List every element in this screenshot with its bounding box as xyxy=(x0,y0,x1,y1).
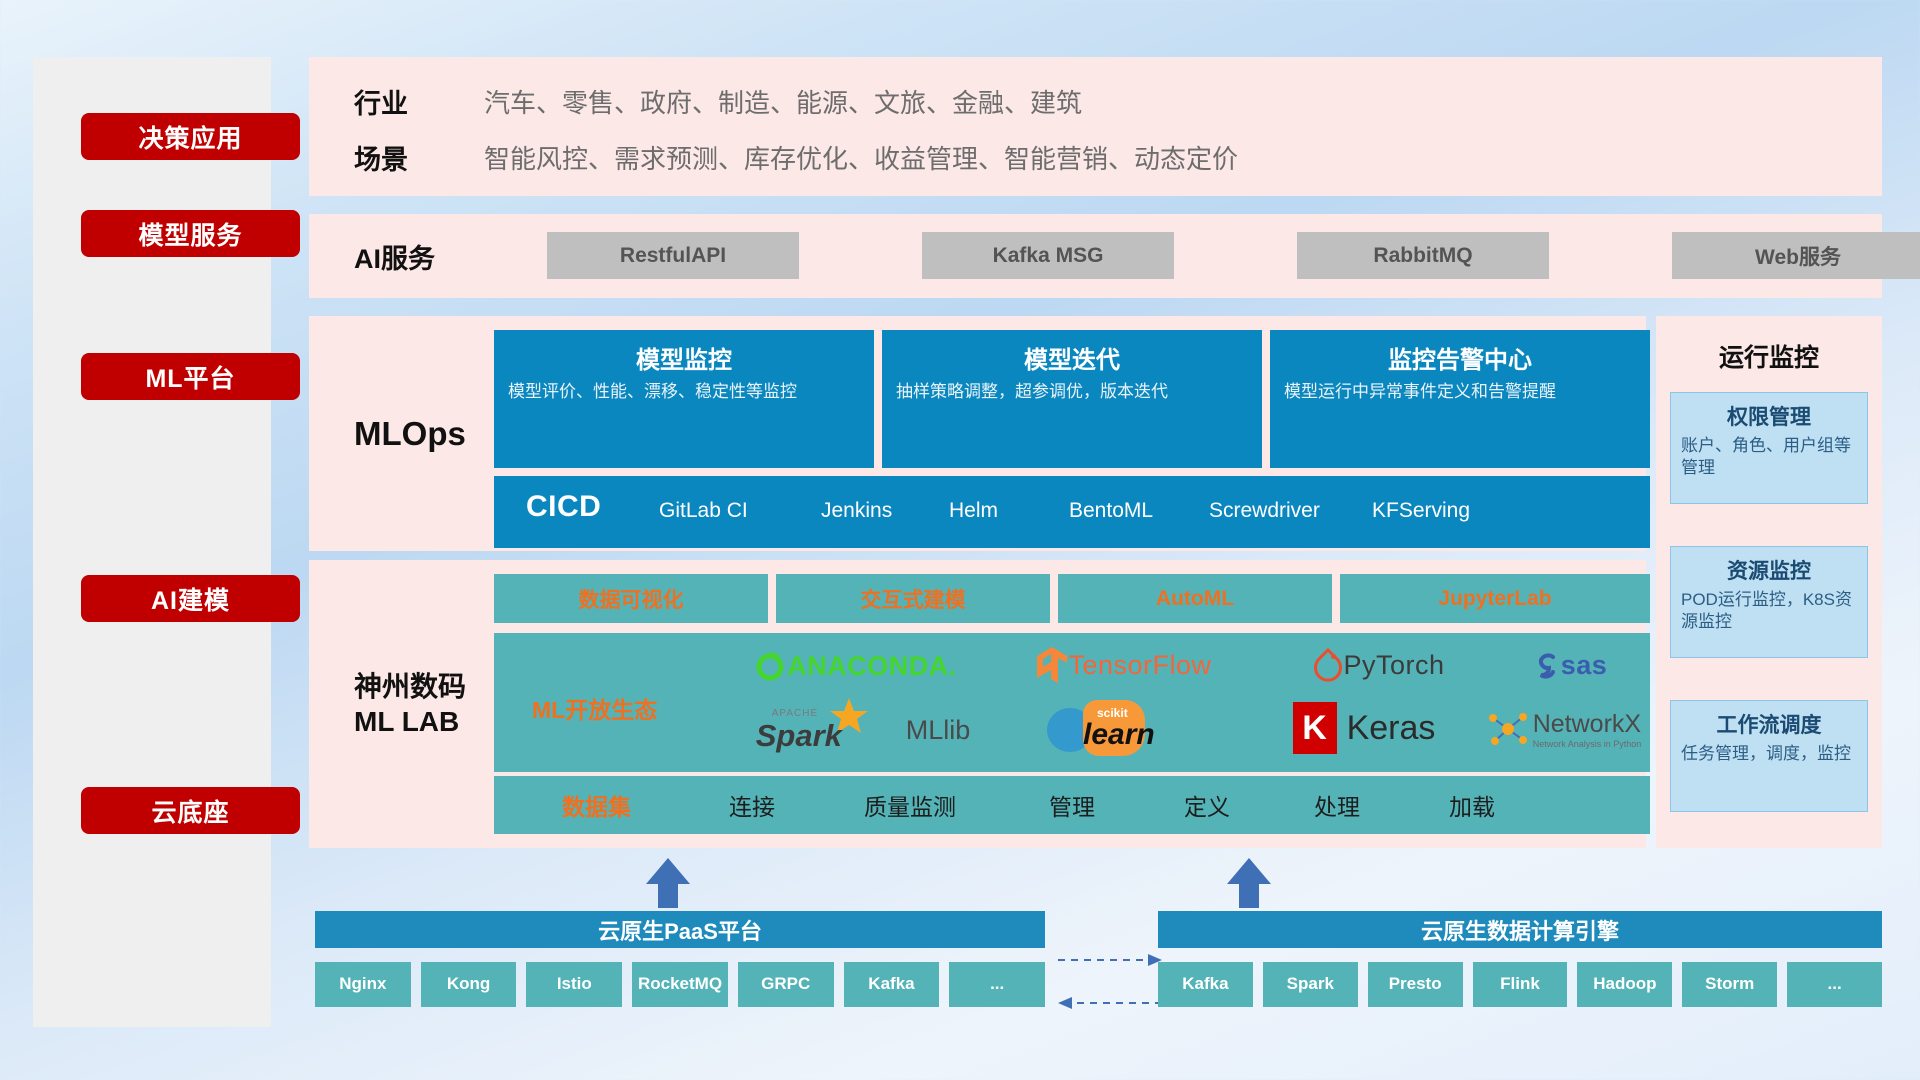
card-desc: 账户、角色、用户组等管理 xyxy=(1681,435,1857,479)
paas-chip-kafka[interactable]: Kafka xyxy=(844,962,940,1007)
paas-chip-istio[interactable]: Istio xyxy=(526,962,622,1007)
tool-chip-interactive-modeling[interactable]: 交互式建模 xyxy=(776,574,1050,623)
anaconda-logo-text: ANACONDA. xyxy=(787,651,957,682)
rail-item-decision-app[interactable]: 决策应用 xyxy=(81,113,300,160)
rail-label: 决策应用 xyxy=(138,119,242,155)
monitoring-card-workflow[interactable]: 工作流调度 任务管理，调度，监控 xyxy=(1670,700,1868,812)
cicd-item-bentoml[interactable]: BentoML xyxy=(1069,498,1149,524)
decision-app-band: 行业 汽车、零售、政府、制造、能源、文旅、金融、建筑 场景 智能风控、需求预测、… xyxy=(309,57,1882,196)
engine-chip-row: Kafka Spark Presto Flink Hadoop Storm ..… xyxy=(1158,962,1882,1007)
card-desc: 模型评价、性能、漂移、稳定性等监控 xyxy=(508,381,860,403)
left-rail: 决策应用 模型服务 ML平台 AI建模 云底座 xyxy=(33,57,271,1027)
engine-chip-storm[interactable]: Storm xyxy=(1682,962,1777,1007)
cicd-item-jenkins[interactable]: Jenkins xyxy=(821,498,893,524)
paas-chip-more[interactable]: ... xyxy=(949,962,1045,1007)
card-title: 权限管理 xyxy=(1681,401,1857,431)
service-chip-rabbitmq[interactable]: RabbitMQ xyxy=(1297,232,1549,279)
keras-logo-text: Keras xyxy=(1347,709,1436,748)
cicd-item-helm[interactable]: Helm xyxy=(949,498,1027,524)
mlops-label: MLOps xyxy=(354,316,466,551)
dataset-item-load[interactable]: 加载 xyxy=(1449,788,1495,822)
ml-lab-label-line2: ML LAB xyxy=(354,704,466,739)
card-title: 模型迭代 xyxy=(896,340,1248,375)
mllib-logo-text: MLlib xyxy=(906,715,971,746)
dataset-item-manage[interactable]: 管理 xyxy=(1049,788,1095,822)
paas-chip-rocketmq[interactable]: RocketMQ xyxy=(632,962,728,1007)
tool-chip-data-visualization[interactable]: 数据可视化 xyxy=(494,574,768,623)
data-engine-title: 云原生数据计算引擎 xyxy=(1421,914,1619,946)
monitoring-card-resource[interactable]: 资源监控 POD运行监控，K8S资源监控 xyxy=(1670,546,1868,658)
data-engine-bar[interactable]: 云原生数据计算引擎 xyxy=(1158,911,1882,948)
pytorch-logo: PyTorch xyxy=(1264,641,1494,689)
sas-logo-text: sas xyxy=(1561,650,1608,681)
rail-label: 模型服务 xyxy=(138,216,242,252)
ml-lab-label-line1: 神州数码 xyxy=(354,669,466,704)
cicd-bar: CICD GitLab CI Jenkins Helm BentoML Scre… xyxy=(494,476,1650,548)
networkx-logo-text: NetworkX xyxy=(1533,710,1642,739)
architecture-diagram: 决策应用 模型服务 ML平台 AI建模 云底座 行业 汽车、零售、政府、制造、能… xyxy=(0,0,1920,1080)
card-desc: 模型运行中异常事件定义和告警提醒 xyxy=(1284,381,1636,403)
tool-chip-jupyterlab[interactable]: JupyterLab xyxy=(1340,574,1650,623)
arrow-up-paas-icon xyxy=(646,858,690,908)
card-desc: POD运行监控，K8S资源监控 xyxy=(1681,589,1857,633)
mlops-card-model-monitoring[interactable]: 模型监控 模型评价、性能、漂移、稳定性等监控 xyxy=(494,330,874,468)
tensorflow-logo: TensorFlow xyxy=(994,641,1254,689)
card-desc: 任务管理，调度，监控 xyxy=(1681,743,1857,765)
mlops-card-alert-center[interactable]: 监控告警中心 模型运行中异常事件定义和告警提醒 xyxy=(1270,330,1650,468)
card-desc: 抽样策略调整，超参调优，版本迭代 xyxy=(896,381,1248,403)
engine-chip-presto[interactable]: Presto xyxy=(1368,962,1463,1007)
industry-value: 汽车、零售、政府、制造、能源、文旅、金融、建筑 xyxy=(484,83,1082,120)
industry-row: 行业 汽车、零售、政府、制造、能源、文旅、金融、建筑 xyxy=(354,75,1082,127)
card-title: 工作流调度 xyxy=(1681,709,1857,739)
model-service-band: AI服务 RestfulAPI Kafka MSG RabbitMQ Web服务 xyxy=(309,214,1882,298)
service-chip-web-service[interactable]: Web服务 xyxy=(1672,232,1920,279)
dataset-item-define[interactable]: 定义 xyxy=(1184,788,1230,822)
ml-ecosystem-panel: ML开放生态 ANACONDA. TensorFlow PyTorch sas xyxy=(494,633,1650,772)
rail-item-cloud-base[interactable]: 云底座 xyxy=(81,787,300,834)
paas-platform-bar[interactable]: 云原生PaaS平台 xyxy=(315,911,1045,948)
arrow-up-engine-icon xyxy=(1227,858,1271,908)
dataset-item-connect[interactable]: 连接 xyxy=(729,788,775,822)
rail-item-ai-modeling[interactable]: AI建模 xyxy=(81,575,300,622)
rail-item-ml-platform[interactable]: ML平台 xyxy=(81,353,300,400)
scenario-row: 场景 智能风控、需求预测、库存优化、收益管理、智能营销、动态定价 xyxy=(354,131,1238,183)
ml-ecosystem-label: ML开放生态 xyxy=(532,691,657,725)
spark-logo-text: Spark xyxy=(756,718,842,754)
ai-modeling-band: 神州数码 ML LAB 数据可视化 交互式建模 AutoML JupyterLa… xyxy=(309,560,1646,848)
paas-chip-row: Nginx Kong Istio RocketMQ GRPC Kafka ... xyxy=(315,962,1045,1007)
tool-chip-automl[interactable]: AutoML xyxy=(1058,574,1332,623)
cicd-item-screwdriver[interactable]: Screwdriver xyxy=(1209,498,1314,524)
card-title: 模型监控 xyxy=(508,340,860,375)
dataset-row: 数据集 连接 质量监测 管理 定义 处理 加载 xyxy=(494,776,1650,834)
engine-chip-hadoop[interactable]: Hadoop xyxy=(1577,962,1672,1007)
keras-mark-text: K xyxy=(1293,702,1337,754)
cicd-title: CICD xyxy=(526,490,601,524)
anaconda-logo: ANACONDA. xyxy=(730,643,980,689)
keras-logo: K Keras xyxy=(1264,699,1464,757)
dataset-item-quality[interactable]: 质量监测 xyxy=(864,788,956,822)
sas-logo: sas xyxy=(1494,641,1644,689)
ml-lab-label: 神州数码 ML LAB xyxy=(354,560,466,848)
spark-mllib-logo: APACHE Spark MLlib xyxy=(720,699,1000,761)
engine-chip-spark[interactable]: Spark xyxy=(1263,962,1358,1007)
scenario-key: 场景 xyxy=(354,138,484,177)
service-chip-restfulapi[interactable]: RestfulAPI xyxy=(547,232,799,279)
networkx-logo: NetworkX Network Analysis in Python xyxy=(1469,701,1659,757)
engine-chip-more[interactable]: ... xyxy=(1787,962,1882,1007)
paas-chip-kong[interactable]: Kong xyxy=(421,962,517,1007)
learn-text: learn xyxy=(1083,718,1155,752)
ai-service-label: AI服务 xyxy=(354,214,435,298)
dataset-item-process[interactable]: 处理 xyxy=(1314,788,1360,822)
cicd-item-kfserving[interactable]: KFServing xyxy=(1372,498,1472,524)
monitoring-panel: 运行监控 权限管理 账户、角色、用户组等管理 资源监控 POD运行监控，K8S资… xyxy=(1656,316,1882,848)
service-chip-kafka-msg[interactable]: Kafka MSG xyxy=(922,232,1174,279)
rail-item-model-service[interactable]: 模型服务 xyxy=(81,210,300,257)
networkx-sub-text: Network Analysis in Python xyxy=(1533,739,1642,749)
monitoring-title: 运行监控 xyxy=(1656,338,1882,374)
tensorflow-logo-text: TensorFlow xyxy=(1068,650,1211,681)
rail-label: ML平台 xyxy=(145,359,235,395)
paas-platform-title: 云原生PaaS平台 xyxy=(598,914,762,946)
engine-chip-flink[interactable]: Flink xyxy=(1473,962,1568,1007)
mlops-band: MLOps 模型监控 模型评价、性能、漂移、稳定性等监控 模型迭代 抽样策略调整… xyxy=(309,316,1646,551)
engine-chip-kafka[interactable]: Kafka xyxy=(1158,962,1253,1007)
paas-chip-nginx[interactable]: Nginx xyxy=(315,962,411,1007)
rail-label: AI建模 xyxy=(151,581,230,617)
mlops-card-model-iteration[interactable]: 模型迭代 抽样策略调整，超参调优，版本迭代 xyxy=(882,330,1262,468)
scenario-value: 智能风控、需求预测、库存优化、收益管理、智能营销、动态定价 xyxy=(484,139,1238,176)
pytorch-logo-text: PyTorch xyxy=(1343,650,1444,681)
card-title: 资源监控 xyxy=(1681,555,1857,585)
paas-chip-grpc[interactable]: GRPC xyxy=(738,962,834,1007)
scikit-learn-logo: scikit learn xyxy=(1024,697,1244,759)
card-title: 监控告警中心 xyxy=(1284,340,1636,375)
cicd-item-gitlab-ci[interactable]: GitLab CI xyxy=(659,498,769,524)
dataset-label: 数据集 xyxy=(562,788,631,822)
industry-key: 行业 xyxy=(354,82,484,121)
rail-label: 云底座 xyxy=(151,793,229,829)
monitoring-card-permission[interactable]: 权限管理 账户、角色、用户组等管理 xyxy=(1670,392,1868,504)
